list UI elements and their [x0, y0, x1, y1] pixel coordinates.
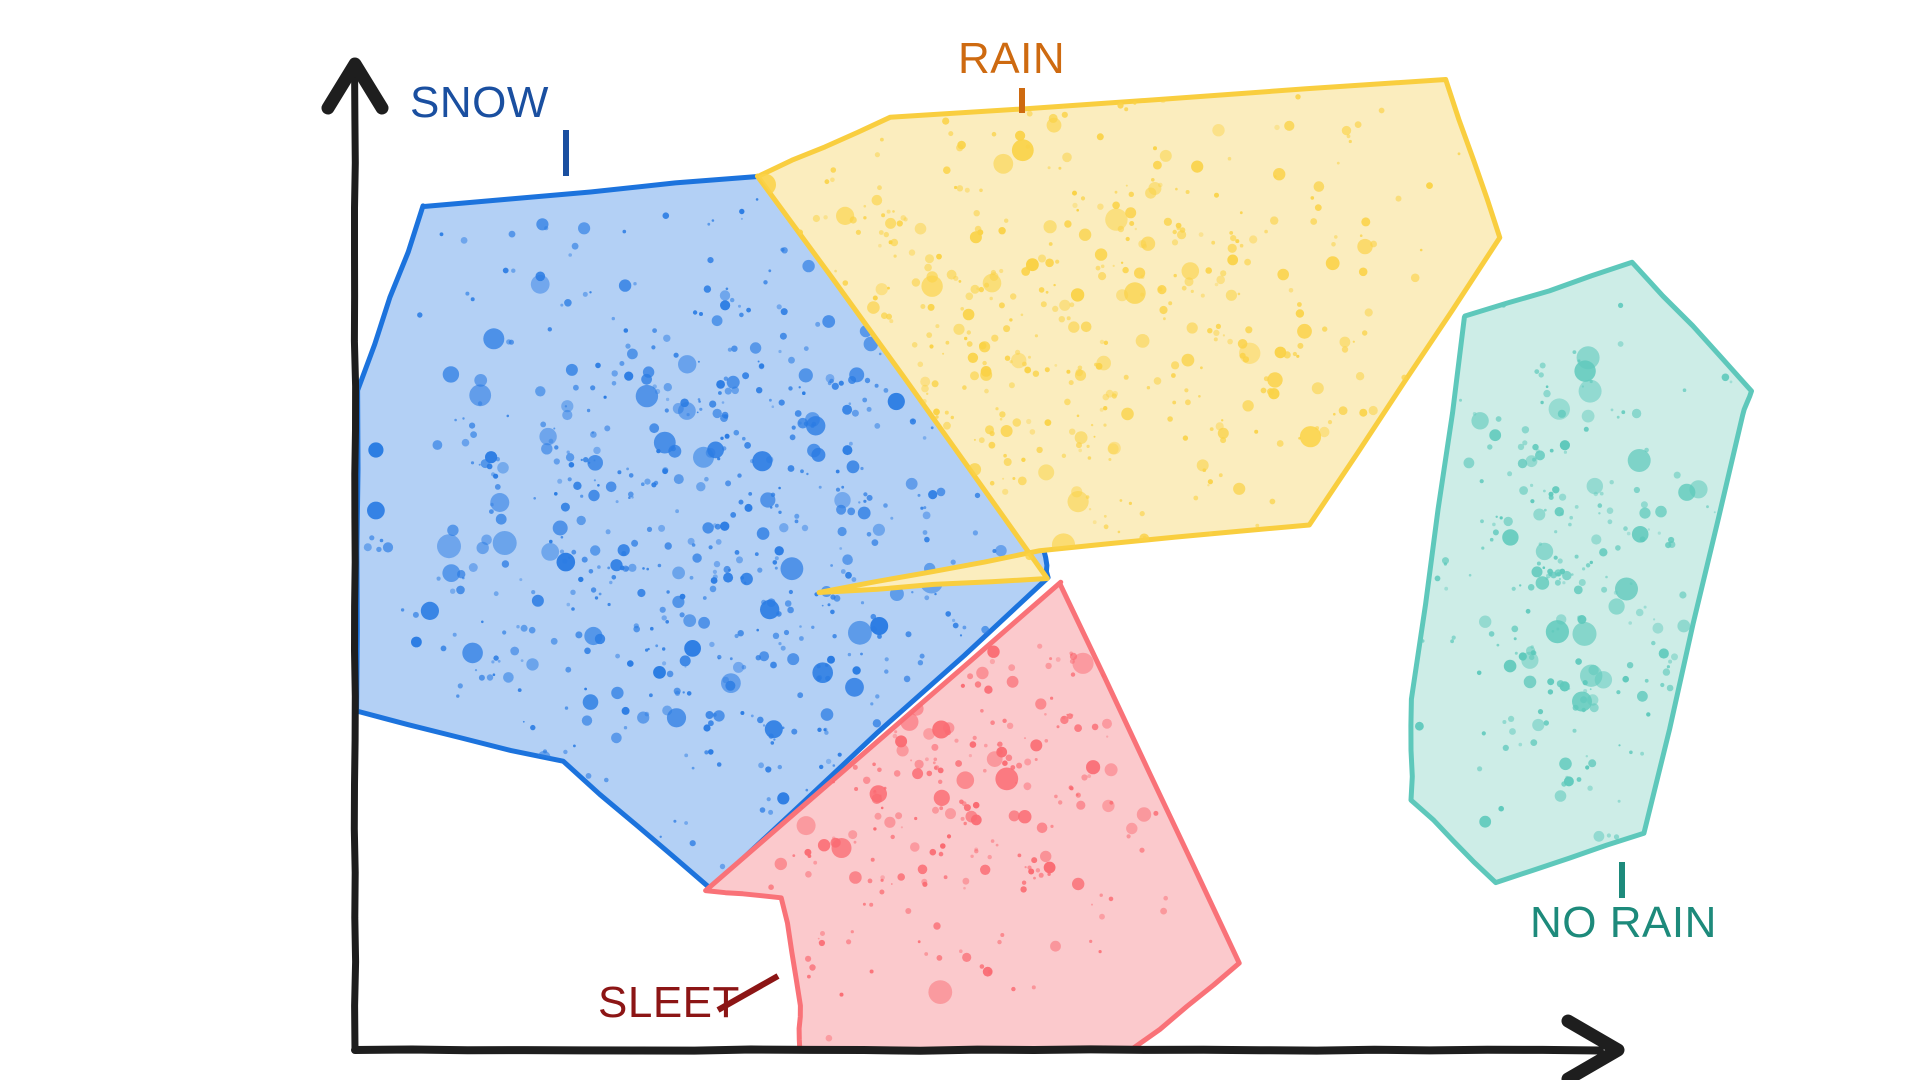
cluster-region-no-rain[interactable]: [1411, 262, 1752, 882]
cluster-label-rain[interactable]: RAIN: [958, 34, 1065, 84]
cluster-label-no-rain[interactable]: NO RAIN: [1530, 898, 1717, 948]
cluster-label-sleet[interactable]: SLEET: [598, 978, 740, 1028]
cluster-label-snow[interactable]: SNOW: [410, 78, 549, 128]
chart-canvas: SNOW RAIN SLEET NO RAIN: [0, 0, 1920, 1080]
